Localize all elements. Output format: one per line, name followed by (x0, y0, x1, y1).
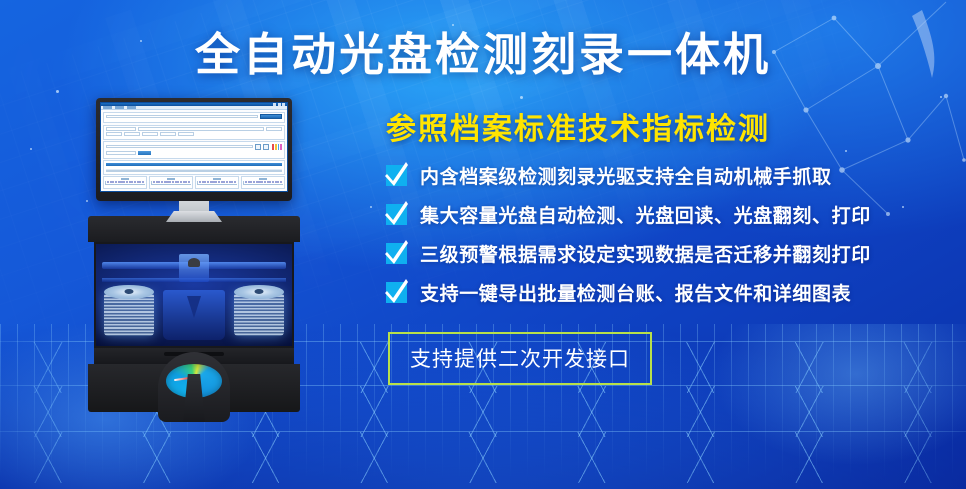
robot-arm-head (179, 254, 209, 282)
list-item: 三级预警根据需求设定实现数据是否迁移并翻刻打印 (386, 240, 956, 267)
chart-bar (234, 181, 236, 183)
chart-bar (280, 181, 282, 183)
legend-entry (183, 191, 192, 192)
chart-legend (103, 190, 285, 192)
filter-panel (103, 125, 285, 140)
list-item: 集大容量光盘自动检测、光盘回读、光盘翻刻、打印 (386, 201, 956, 228)
color-swatches (272, 144, 282, 150)
check-icon (386, 165, 407, 186)
table-scrollbar[interactable] (106, 170, 282, 173)
filter-field-4[interactable] (106, 132, 122, 136)
filter-field-1[interactable] (106, 127, 136, 131)
legend-entry (208, 191, 217, 192)
left-disc-spindle (104, 292, 154, 336)
chart-axis-4 (243, 185, 283, 187)
check-icon (386, 282, 407, 303)
chart-panel-group (103, 176, 285, 189)
list-item-label: 内含档案级检测刻录光驱支持全自动机械手抓取 (420, 162, 832, 189)
filter-field-3[interactable] (266, 127, 282, 131)
menu-item-1[interactable] (103, 106, 112, 109)
chart-panel (103, 176, 147, 189)
check-icon (386, 204, 407, 225)
monitor-screen (100, 102, 288, 192)
banner-subtitle: 参照档案标准技术指标检测 (386, 104, 956, 148)
disc-autoloader-machine (88, 216, 300, 412)
filter-field-7[interactable] (160, 132, 176, 136)
drive-gauge-2 (263, 144, 269, 150)
menu-item-2[interactable] (115, 106, 124, 109)
product-banner: 全自动光盘检测刻录一体机 (0, 0, 966, 489)
filter-field-8[interactable] (178, 132, 194, 136)
monitor-bezel (96, 98, 292, 201)
desktop-monitor (96, 98, 292, 230)
device-select[interactable] (106, 151, 136, 155)
check-icon (386, 243, 407, 264)
device-apply-button[interactable] (138, 151, 151, 155)
menu-item-3[interactable] (127, 106, 136, 109)
feature-list: 内含档案级检测刻录光驱支持全自动机械手抓取 集大容量光盘自动检测、光盘回读、光盘… (386, 162, 956, 306)
search-input[interactable] (106, 115, 258, 119)
search-button[interactable] (260, 114, 282, 119)
filter-field-6[interactable] (142, 132, 158, 136)
banner-title: 全自动光盘检测刻录一体机 (0, 18, 966, 83)
chart-axis-2 (151, 185, 191, 187)
machine-top-cover (88, 216, 300, 242)
list-item: 内含档案级检测刻录光驱支持全自动机械手抓取 (386, 162, 956, 189)
list-item-label: 集大容量光盘自动检测、光盘回读、光盘翻刻、打印 (420, 201, 871, 228)
legend-entry (171, 191, 180, 192)
device-panel (103, 141, 285, 159)
chart-title-1 (121, 178, 129, 180)
chart-panel (241, 176, 285, 189)
chart-bar (188, 181, 190, 183)
list-item: 支持一键导出批量检测台账、报告文件和详细图表 (386, 279, 956, 306)
drive-gauge-1 (255, 144, 261, 150)
chart-title-2 (167, 178, 175, 180)
device-path-input[interactable] (106, 145, 253, 149)
list-item-label: 三级预警根据需求设定实现数据是否迁移并翻刻打印 (420, 240, 871, 267)
chart-axis-1 (105, 185, 145, 187)
robot-gripper-icon (188, 258, 200, 267)
app-body (101, 110, 287, 193)
chart-title-3 (213, 178, 221, 180)
output-disc-tray (158, 352, 230, 422)
secondary-development-cta[interactable]: 支持提供二次开发接口 (388, 332, 652, 385)
center-drive-unit (163, 290, 225, 340)
machine-base (88, 364, 300, 412)
chart-title-4 (259, 178, 267, 180)
legend-entry (196, 191, 205, 192)
chart-bar (142, 181, 144, 183)
list-item-label: 支持一键导出批量检测台账、报告文件和详细图表 (420, 279, 851, 306)
chart-axis-3 (197, 185, 237, 187)
banner-content: 参照档案标准技术指标检测 内含档案级检测刻录光驱支持全自动机械手抓取 集大容量光… (386, 104, 956, 385)
filter-field-5[interactable] (124, 132, 140, 136)
chart-panel (195, 176, 239, 189)
results-table (103, 160, 285, 175)
filter-field-2[interactable] (138, 127, 264, 131)
chart-panel (149, 176, 193, 189)
machine-viewing-window (94, 242, 294, 348)
right-disc-spindle (234, 292, 284, 336)
search-panel (103, 112, 285, 124)
drive-status-gauges (255, 144, 282, 150)
